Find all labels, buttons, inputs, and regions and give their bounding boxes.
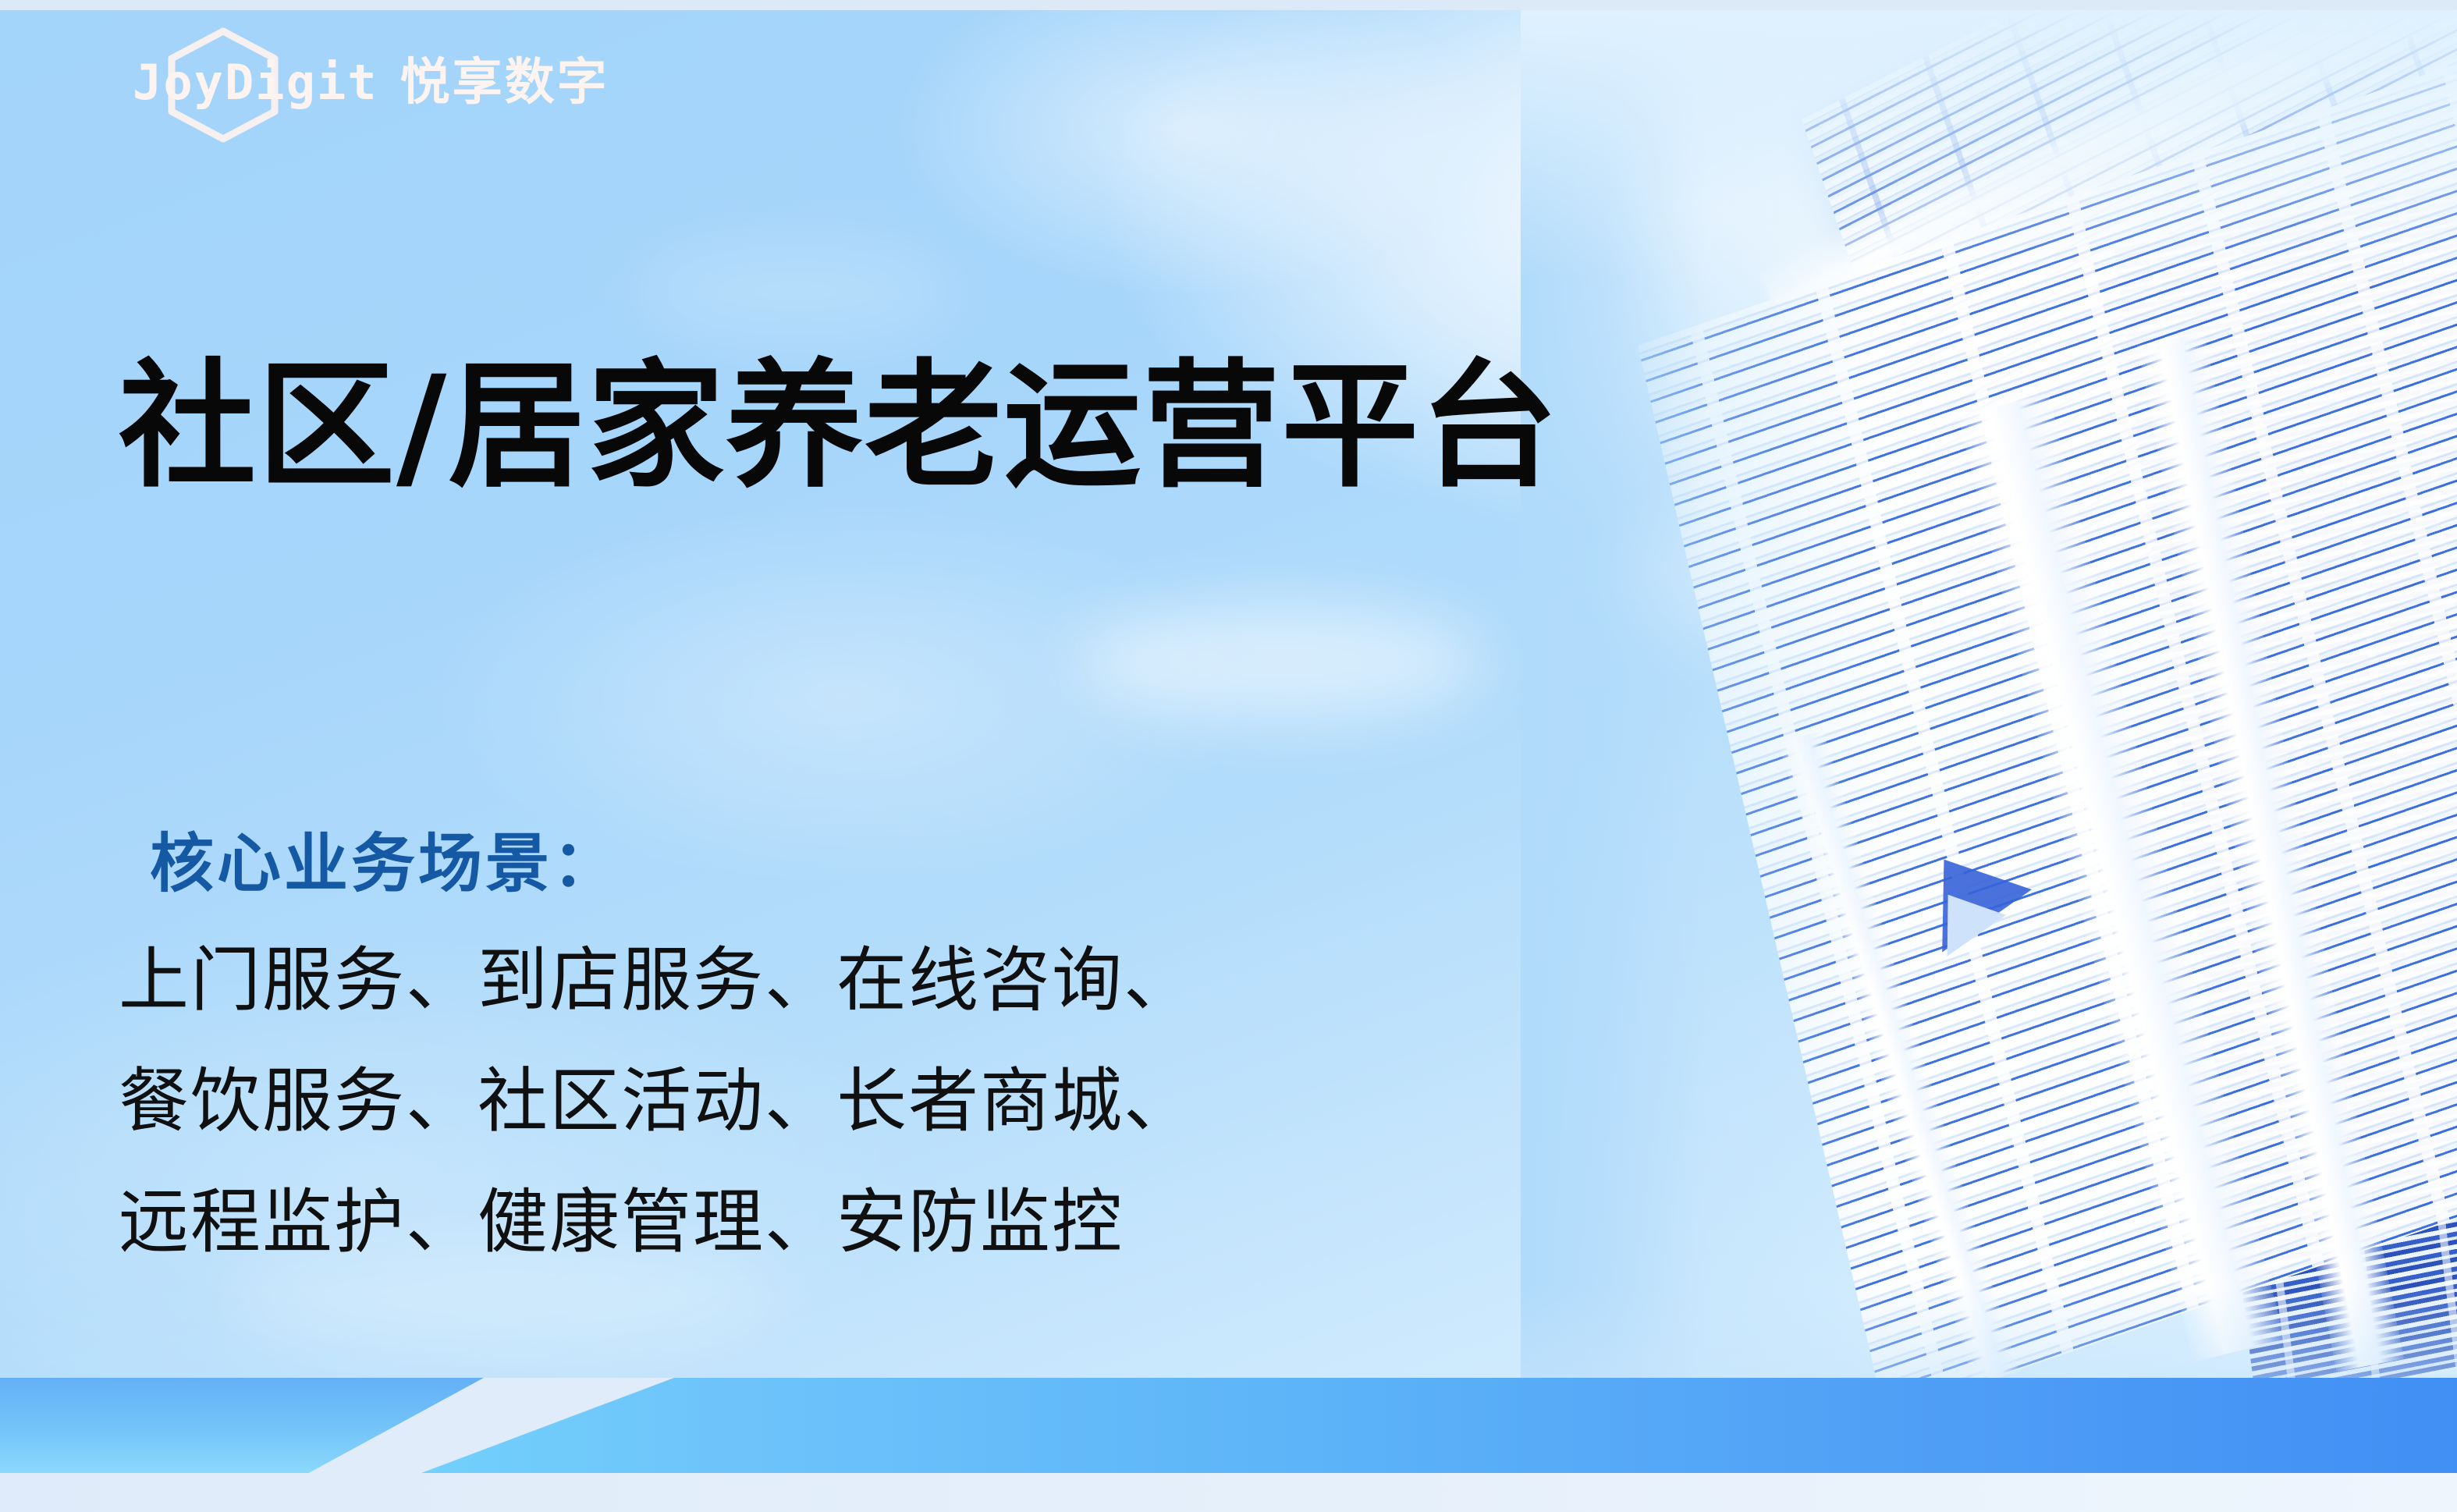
brand-logo[interactable]: JoyDigit 悦享数字 [133,45,609,120]
brand-chinese-name: 悦享数字 [400,58,609,108]
footer-decoration [0,1378,2457,1512]
scenario-list: 上门服务、到店服务、在线咨询、 餐饮服务、社区活动、长者商城、 远程监护、健康管… [119,921,1195,1283]
cloud-wisp [1077,603,1482,720]
cloud-wisp [1600,494,1935,642]
cloud-wisp [640,244,952,338]
brand-wordmark: JoyDigit [133,59,378,107]
footer-band-left [0,1378,484,1473]
scenario-line: 上门服务、到店服务、在线咨询、 [119,921,1195,1042]
footer-band-right [421,1378,2457,1473]
slide-root: JoyDigit 悦享数字 社区/居家养老运营平台 核心业务场景： 上门服务、到… [0,0,2457,1512]
top-edge-strip [0,0,2457,10]
page-title: 社区/居家养老运营平台 [119,350,1559,503]
scenario-line: 餐饮服务、社区活动、长者商城、 [119,1042,1195,1162]
footer-base-strip [0,1473,2457,1512]
scenario-line: 远程监护、健康管理、安防监控 [119,1162,1195,1283]
section-heading: 核心业务场景： [150,829,620,900]
